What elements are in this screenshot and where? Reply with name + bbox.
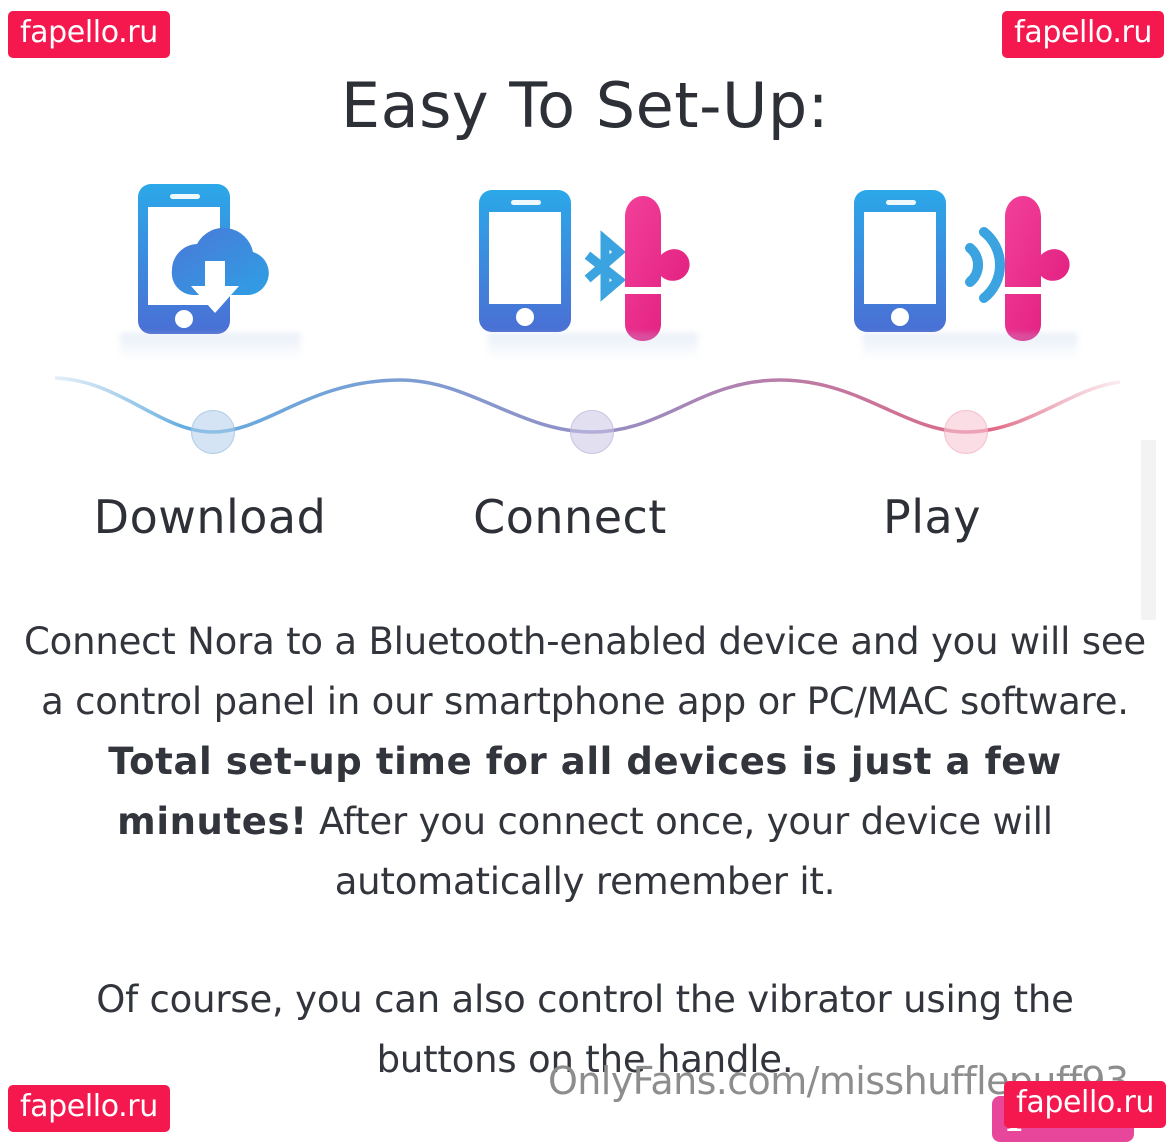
fapello-watermark-top-left: fapello.ru	[8, 11, 170, 58]
wave-dot-play	[944, 410, 988, 454]
vibrator-icon	[620, 196, 690, 341]
download-illustration	[110, 172, 310, 357]
step-label-download: Download	[60, 492, 360, 543]
step-labels-row: Download Connect Play	[0, 492, 1170, 554]
paragraph-1-part-1: Connect Nora to a Bluetooth-enabled devi…	[24, 620, 1146, 723]
fapello-watermark-bottom-left: fapello.ru	[8, 1085, 170, 1132]
smartphone-icon	[479, 190, 571, 332]
connect-illustration	[473, 172, 713, 357]
body-copy: Connect Nora to a Bluetooth-enabled devi…	[22, 612, 1148, 1090]
step-label-connect: Connect	[420, 492, 720, 543]
step-art-connect	[470, 172, 715, 357]
step-label-play: Play	[782, 492, 1082, 543]
fapello-watermark-top-right: fapello.ru	[1002, 11, 1164, 58]
play-illustration	[848, 172, 1093, 357]
vibrator-icon	[1000, 196, 1070, 341]
fapello-watermark-bottom-right: fapello.ru	[1004, 1081, 1166, 1128]
wave-dot-connect	[570, 410, 614, 454]
step-art-play	[845, 172, 1095, 357]
paragraph-1-part-2: After you connect once, your device will…	[308, 800, 1053, 903]
steps-illustration-row	[0, 172, 1170, 357]
step-art-download	[105, 172, 315, 357]
bluetooth-icon	[591, 240, 619, 292]
page-title: Easy To Set-Up:	[0, 72, 1170, 140]
paragraph-1: Connect Nora to a Bluetooth-enabled devi…	[24, 620, 1146, 903]
wireless-signal-icon	[970, 232, 1000, 298]
smartphone-icon	[854, 190, 946, 332]
wave-dot-download	[191, 410, 235, 454]
